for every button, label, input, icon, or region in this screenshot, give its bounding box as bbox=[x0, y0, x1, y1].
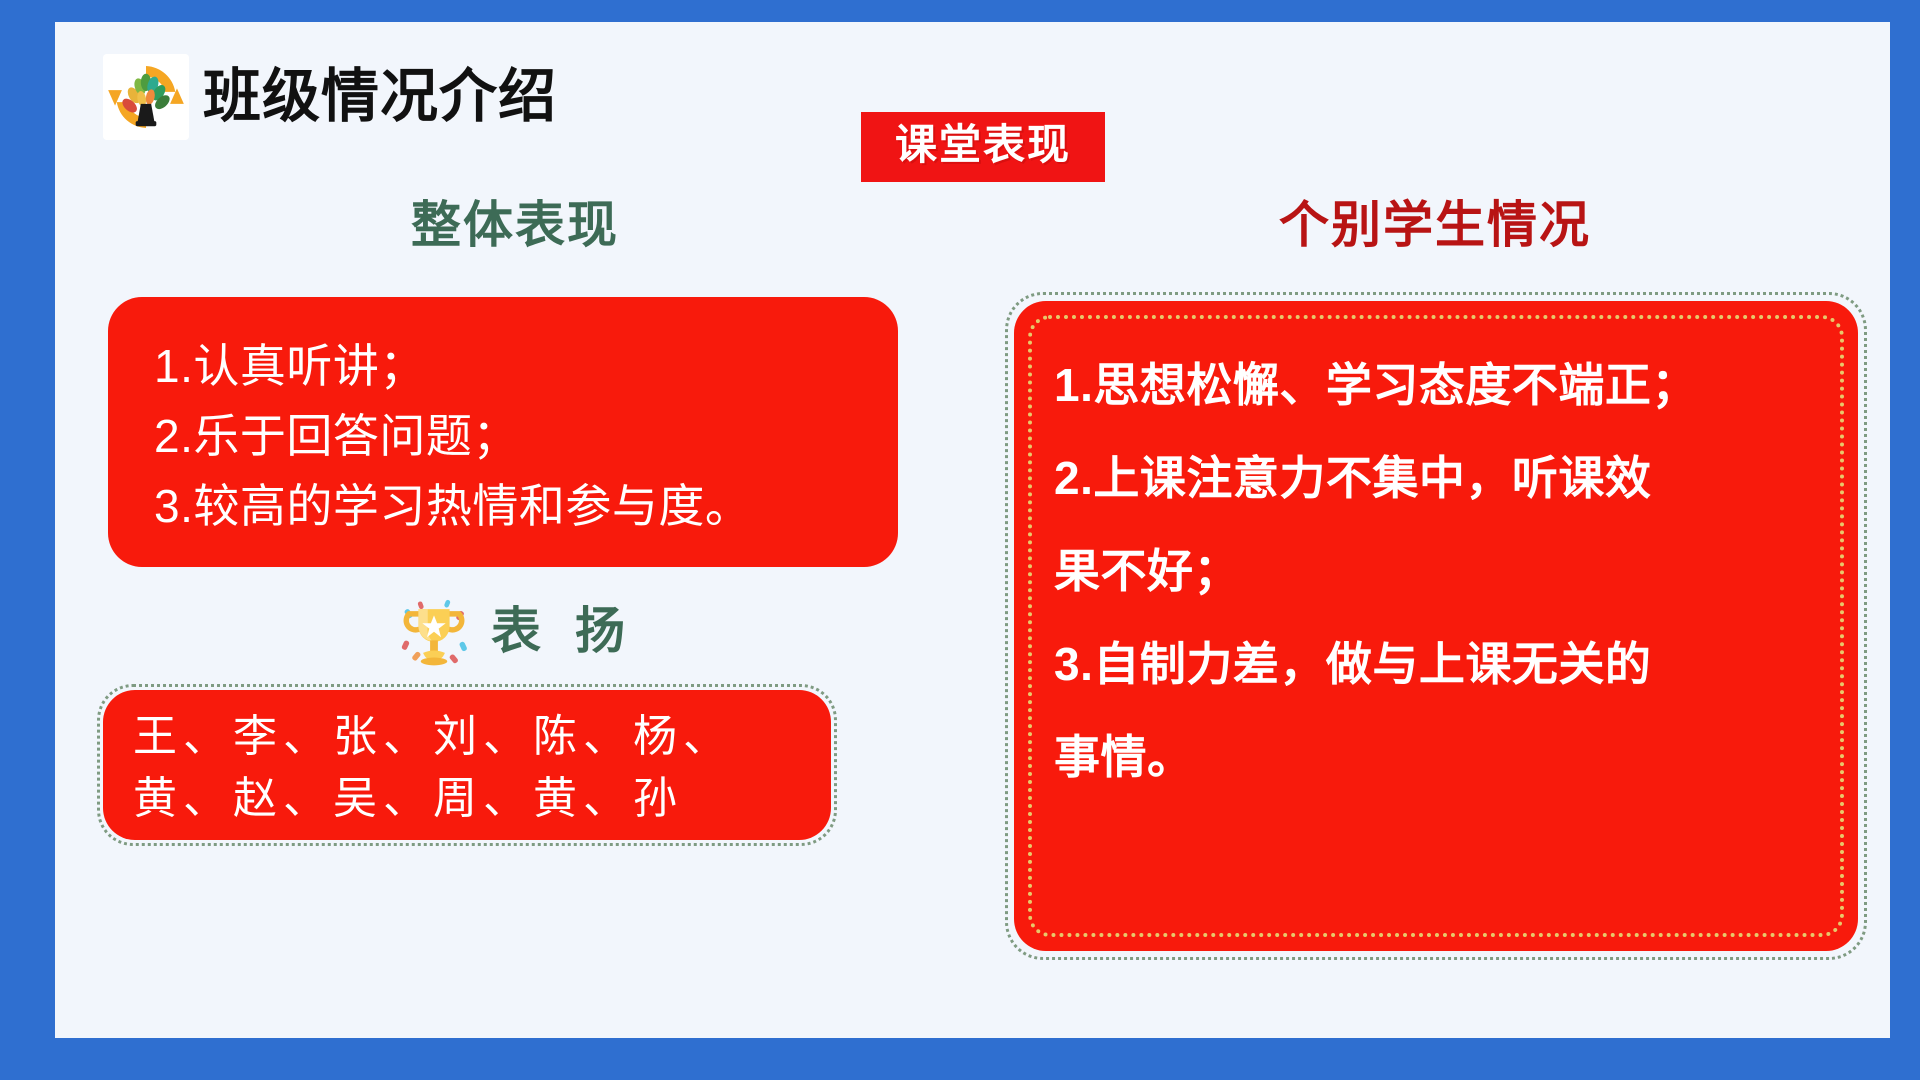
content-columns: 整体表现 1.认真听讲； 2.乐于回答问题； 3.较高的学习热情和参与度。 bbox=[55, 192, 1890, 1022]
praised-students-card: 王、李、张、刘、陈、杨、 黄、赵、吴、周、黄、孙 bbox=[97, 684, 837, 846]
slide-root: 班级情况介绍 课堂表现 整体表现 1.认真听讲； 2.乐于回答问题； 3.较高的… bbox=[0, 0, 1920, 1080]
overall-item: 3.较高的学习热情和参与度。 bbox=[154, 471, 862, 541]
praised-names-line: 王、李、张、刘、陈、杨、 bbox=[133, 706, 805, 768]
praised-names-line: 黄、赵、吴、周、黄、孙 bbox=[133, 768, 805, 830]
praised-students-card-inner: 王、李、张、刘、陈、杨、 黄、赵、吴、周、黄、孙 bbox=[103, 690, 831, 840]
issue-line: 2.上课注意力不集中，听课效 bbox=[1054, 432, 1824, 525]
issue-line: 3.自制力差，做与上课无关的 bbox=[1054, 618, 1824, 711]
praise-heading-row: 表 扬 bbox=[75, 592, 955, 670]
issue-line: 事情。 bbox=[1054, 711, 1824, 804]
slide-header: 班级情况介绍 课堂表现 bbox=[55, 34, 1890, 154]
individual-students-column: 个别学生情况 1.思想松懈、学习态度不端正； 2.上课注意力不集中，听课效 果不… bbox=[995, 192, 1875, 1022]
topic-badge: 课堂表现 bbox=[861, 112, 1105, 182]
individual-issues-card: 1.思想松懈、学习态度不端正； 2.上课注意力不集中，听课效 果不好； 3.自制… bbox=[1005, 292, 1867, 960]
praise-label: 表 扬 bbox=[491, 596, 635, 666]
page-title: 班级情况介绍 bbox=[203, 58, 557, 136]
overall-performance-card: 1.认真听讲； 2.乐于回答问题； 3.较高的学习热情和参与度。 bbox=[108, 297, 898, 567]
overall-performance-heading: 整体表现 bbox=[75, 192, 955, 258]
overall-item: 2.乐于回答问题； bbox=[154, 401, 862, 471]
individual-students-heading: 个别学生情况 bbox=[995, 192, 1875, 258]
overall-item: 1.认真听讲； bbox=[154, 331, 862, 401]
trophy-icon bbox=[395, 592, 473, 670]
issue-line: 果不好； bbox=[1054, 525, 1824, 618]
issue-line: 1.思想松懈、学习态度不端正； bbox=[1054, 339, 1824, 432]
tree-recycle-logo-icon bbox=[103, 54, 189, 140]
overall-performance-column: 整体表现 1.认真听讲； 2.乐于回答问题； 3.较高的学习热情和参与度。 bbox=[75, 192, 955, 1022]
individual-issues-card-inner: 1.思想松懈、学习态度不端正； 2.上课注意力不集中，听课效 果不好； 3.自制… bbox=[1014, 301, 1858, 951]
slide-canvas: 班级情况介绍 课堂表现 整体表现 1.认真听讲； 2.乐于回答问题； 3.较高的… bbox=[55, 22, 1890, 1038]
